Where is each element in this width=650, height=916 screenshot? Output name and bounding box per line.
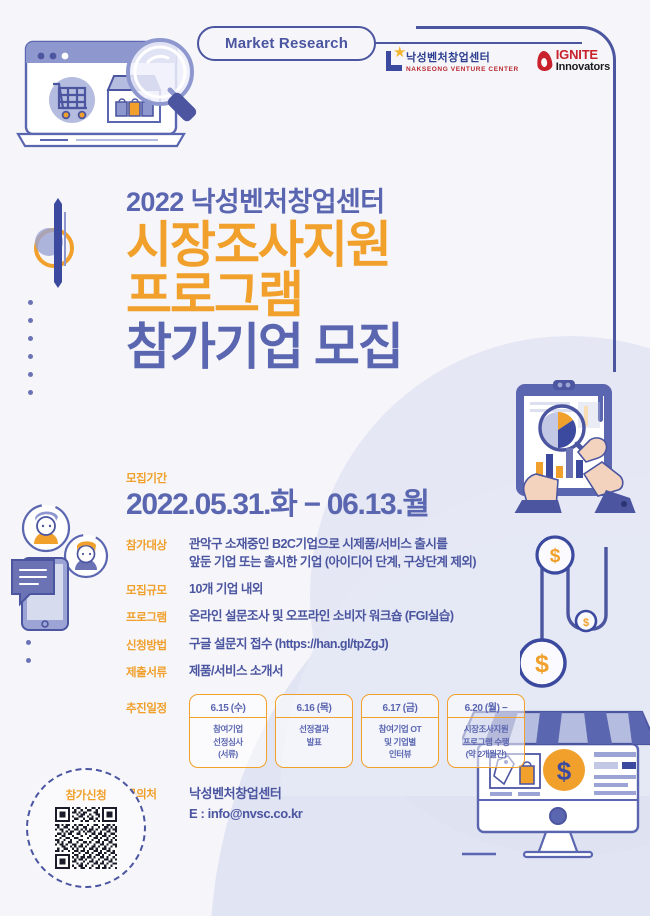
logo-group: ★ 낙성벤처창업센터 NAKSEONG VENTURE CENTER IGNIT… (386, 48, 610, 73)
value-contact: 낙성벤처창업센터 E : info@nvsc.co.kr (189, 784, 302, 824)
value-scale: 10개 기업 내외 (189, 580, 263, 598)
headline-line-3: 프로그램 (126, 271, 402, 320)
svg-text:$: $ (550, 546, 561, 567)
value-period: 2022.05.31.화 − 06.13.월 (126, 488, 526, 521)
row-apply: 신청방법 구글 설문지 접수 (https://han.gl/tpZgJ) (126, 635, 526, 653)
headline-line-2: 시장조사지원 (126, 221, 402, 270)
schedule-item-body: 참여기업 OT 및 기업별 인터뷰 (362, 718, 438, 767)
dot (28, 318, 33, 323)
dot (28, 354, 33, 359)
schedule-item-line: 프로그램 수행 (450, 736, 522, 749)
schedule-item-line: 인터뷰 (364, 748, 436, 761)
flame-icon (536, 50, 553, 71)
schedule-item-date: 6.16 (목) (276, 695, 352, 718)
frame-border-top (346, 42, 582, 44)
schedule-item-line: 시장조사지원 (450, 723, 522, 736)
schedule-item-body: 시장조사지원 프로그램 수행 (약 2개월간) (448, 718, 524, 767)
row-documents: 제출서류 제품/서비스 소개서 (126, 662, 526, 680)
headline-line-4: 참가기업 모집 (126, 323, 402, 372)
schedule-item: 6.16 (목) 선정결과 발표 (275, 694, 353, 768)
schedule-item: 6.15 (수) 참여기업 선정심사 (서류) (189, 694, 267, 768)
label-schedule: 추진일정 (126, 694, 179, 716)
row-target: 참가대상 관악구 소재중인 B2C기업으로 시제품/서비스 출시를 앞둔 기업 … (126, 535, 526, 571)
dot (26, 640, 31, 645)
frame-border-right (416, 26, 616, 356)
poster-root: $ $ $ $ (0, 0, 650, 916)
row-scale: 모집규모 10개 기업 내외 (126, 580, 526, 598)
row-contact: 문의처 낙성벤처창업센터 E : info@nvsc.co.kr (126, 784, 526, 824)
label-program: 프로그램 (126, 607, 179, 625)
dollar-coins-illustration: $ $ $ (520, 535, 640, 700)
contact-email[interactable]: E : info@nvsc.co.kr (189, 804, 302, 824)
logo-nvc-korean: 낙성벤처창업센터 (406, 49, 519, 65)
contact-org: 낙성벤처창업센터 (189, 784, 302, 804)
frame-border-right-tail (613, 356, 616, 372)
logo-nvc-english: NAKSEONG VENTURE CENTER (406, 66, 519, 73)
dot (28, 300, 33, 305)
row-program: 프로그램 온라인 설문조사 및 오프라인 소비자 워크숍 (FGI실습) (126, 607, 526, 625)
dot-column-decoration-lower (26, 640, 31, 663)
dot (28, 336, 33, 341)
logo-ignite-line1: IGNITE (556, 48, 610, 62)
svg-text:$: $ (583, 617, 589, 629)
value-documents: 제품/서비스 소개서 (189, 662, 283, 680)
schedule-item: 6.17 (금) 참여기업 OT 및 기업별 인터뷰 (361, 694, 439, 768)
nakseong-venture-center-logo: ★ 낙성벤처창업센터 NAKSEONG VENTURE CENTER (386, 49, 519, 73)
schedule-item-line: 발표 (278, 736, 350, 749)
value-program: 온라인 설문조사 및 오프라인 소비자 워크숍 (FGI실습) (189, 607, 454, 625)
dot-column-decoration (28, 300, 33, 395)
value-target: 관악구 소재중인 B2C기업으로 시제품/서비스 출시를 앞둔 기업 또는 출시… (189, 535, 476, 571)
dot (28, 372, 33, 377)
logo-ignite-line2: Innovators (556, 62, 610, 74)
svg-text:$: $ (535, 650, 549, 678)
schedule-item-line: (서류) (192, 748, 264, 761)
headline-block: 2022 낙성벤처창업센터 시장조사지원 프로그램 참가기업 모집 (126, 188, 402, 372)
market-research-badge: Market Research (197, 26, 376, 61)
dot (28, 390, 33, 395)
schedule-item-line: 선정결과 (278, 723, 350, 736)
schedule-item-line: 참여기업 OT (364, 723, 436, 736)
info-block: 모집기간 2022.05.31.화 − 06.13.월 참가대상 관악구 소재중… (126, 470, 526, 824)
schedule-item: 6.20 (월) − 시장조사지원 프로그램 수행 (약 2개월간) (447, 694, 525, 768)
schedule-boxes: 6.15 (수) 참여기업 선정심사 (서류) 6.16 (목) 선정결과 발표 (189, 694, 525, 768)
ignite-innovators-logo: IGNITE Innovators (537, 48, 610, 73)
schedule-item-line: (약 2개월간) (450, 748, 522, 761)
label-apply: 신청방법 (126, 635, 179, 653)
laptop-shopping-magnifier-illustration (8, 38, 208, 163)
people-chat-phone-illustration (4, 500, 114, 640)
schedule-item-line: 선정심사 (192, 736, 264, 749)
label-scale: 모집규모 (126, 580, 179, 598)
label-documents: 제출서류 (126, 662, 179, 680)
logo-mark-icon: ★ (386, 49, 402, 71)
qr-apply-badge[interactable]: 참가신청 (26, 768, 146, 888)
schedule-item-date: 6.20 (월) − (448, 695, 524, 718)
schedule-item-body: 선정결과 발표 (276, 718, 352, 755)
label-period: 모집기간 (126, 470, 526, 486)
schedule-item-line: 참여기업 (192, 723, 264, 736)
schedule-item-date: 6.15 (수) (190, 695, 266, 718)
value-target-line2: 앞둔 기업 또는 출시한 기업 (아이디어 단계, 구상단계 제외) (189, 553, 476, 571)
qr-title: 참가신청 (66, 787, 107, 803)
qr-code-icon[interactable] (55, 807, 117, 869)
svg-text:$: $ (557, 756, 572, 786)
schedule-item-date: 6.17 (금) (362, 695, 438, 718)
label-target: 참가대상 (126, 535, 179, 553)
value-apply[interactable]: 구글 설문지 접수 (https://han.gl/tpZgJ) (189, 635, 388, 653)
headline-year: 2022 낙성벤처창업센터 (126, 188, 402, 218)
value-target-line1: 관악구 소재중인 B2C기업으로 시제품/서비스 출시를 (189, 535, 476, 553)
schedule-item-body: 참여기업 선정심사 (서류) (190, 718, 266, 767)
star-icon: ★ (393, 45, 406, 60)
ring-circle-decoration (30, 196, 86, 301)
dot (26, 658, 31, 663)
row-schedule: 추진일정 6.15 (수) 참여기업 선정심사 (서류) 6.16 (목) 선정… (126, 694, 526, 768)
schedule-item-line: 및 기업별 (364, 736, 436, 749)
